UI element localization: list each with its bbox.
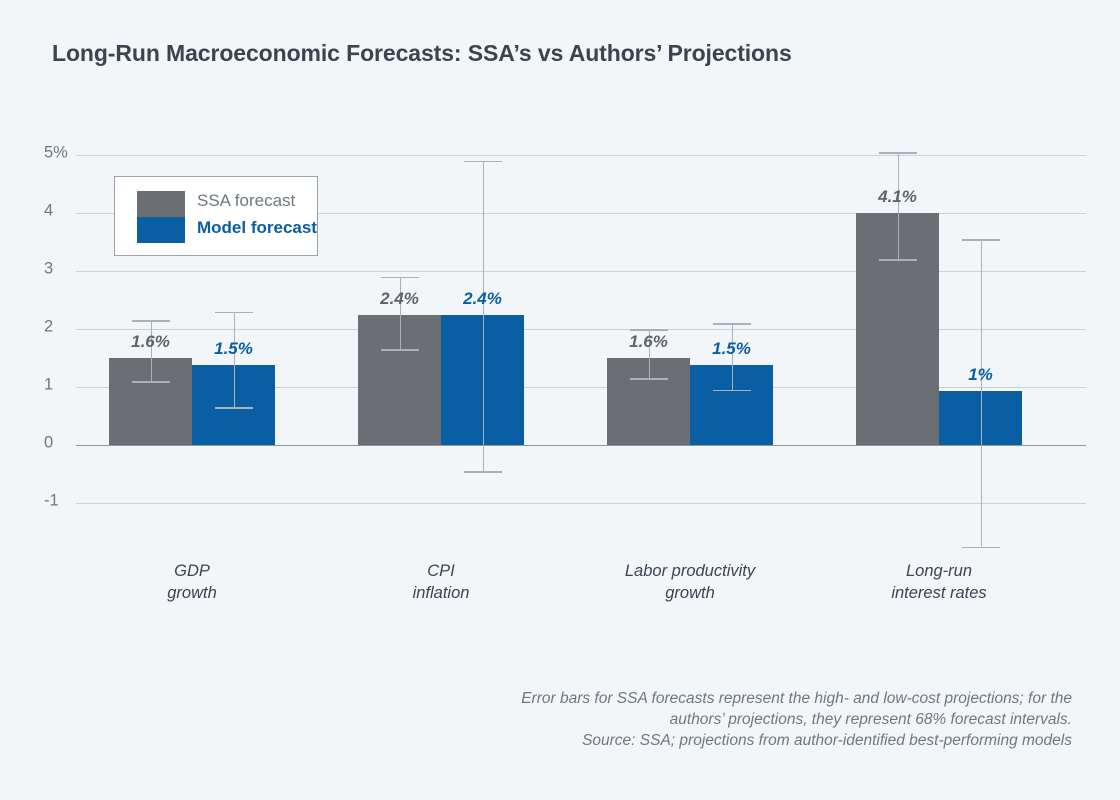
- error-bar-line-model-3: [981, 239, 982, 546]
- legend-swatch-ssa: [137, 191, 185, 217]
- category-label-line: CPI: [321, 560, 561, 582]
- error-bar-cap-high-ssa-0: [132, 320, 170, 322]
- gridline-0: [76, 445, 1086, 446]
- error-bar-cap-low-ssa-2: [630, 378, 668, 380]
- value-label-model-3: 1%: [968, 365, 993, 385]
- error-bar-cap-high-model-1: [464, 161, 502, 163]
- error-bar-cap-high-ssa-2: [630, 329, 668, 331]
- y-axis-tick-5: 5%: [44, 144, 80, 163]
- error-bar-cap-low-ssa-3: [879, 259, 917, 261]
- error-bar-cap-high-ssa-1: [381, 277, 419, 279]
- legend-swatches: [137, 191, 185, 243]
- error-bar-cap-low-ssa-0: [132, 381, 170, 383]
- value-label-model-0: 1.5%: [214, 339, 253, 359]
- category-label-line: growth: [570, 582, 810, 604]
- error-bar-cap-low-model-1: [464, 471, 502, 473]
- value-label-ssa-2: 1.6%: [629, 332, 668, 352]
- x-axis-category-label-2: Labor productivitygrowth: [570, 560, 810, 604]
- category-label-line: GDP: [72, 560, 312, 582]
- error-bar-cap-high-model-0: [215, 312, 253, 314]
- footnote-line-3: Source: SSA; projections from author-ide…: [412, 730, 1072, 751]
- value-label-ssa-0: 1.6%: [131, 332, 170, 352]
- category-label-line: Labor productivity: [570, 560, 810, 582]
- category-label-line: interest rates: [819, 582, 1059, 604]
- value-label-model-1: 2.4%: [463, 289, 502, 309]
- error-bar-cap-high-model-2: [713, 323, 751, 325]
- footnote-line-2: authors’ projections, they represent 68%…: [412, 709, 1072, 730]
- x-axis-category-label-3: Long-runinterest rates: [819, 560, 1059, 604]
- error-bar-cap-low-ssa-1: [381, 349, 419, 351]
- y-axis-tick-2: 2: [44, 318, 80, 337]
- chart-legend: SSA forecast Model forecast: [114, 176, 318, 256]
- category-label-line: growth: [72, 582, 312, 604]
- y-axis-tick-0: 0: [44, 434, 80, 453]
- page-title: Long-Run Macroeconomic Forecasts: SSA’s …: [52, 40, 792, 67]
- category-label-line: Long-run: [819, 560, 1059, 582]
- legend-swatch-model: [137, 217, 185, 243]
- footnote-line-1: Error bars for SSA forecasts represent t…: [412, 688, 1072, 709]
- value-label-ssa-3: 4.1%: [878, 187, 917, 207]
- error-bar-line-model-1: [483, 161, 484, 471]
- gridline--1: [76, 503, 1086, 504]
- error-bar-cap-high-ssa-3: [879, 152, 917, 154]
- category-label-line: inflation: [321, 582, 561, 604]
- y-axis-tick-4: 4: [44, 202, 80, 221]
- value-label-ssa-1: 2.4%: [380, 289, 419, 309]
- gridline-5: [76, 155, 1086, 156]
- footnote: Error bars for SSA forecasts represent t…: [412, 688, 1072, 751]
- error-bar-cap-low-model-2: [713, 390, 751, 392]
- x-axis-category-label-0: GDPgrowth: [72, 560, 312, 604]
- value-label-model-2: 1.5%: [712, 339, 751, 359]
- error-bar-line-model-0: [234, 312, 235, 408]
- y-axis-tick-3: 3: [44, 260, 80, 279]
- error-bar-cap-low-model-0: [215, 407, 253, 409]
- y-axis-tick--1: -1: [44, 492, 80, 511]
- error-bar-cap-high-model-3: [962, 239, 1000, 241]
- chart-figure: Long-Run Macroeconomic Forecasts: SSA’s …: [0, 0, 1120, 800]
- legend-label-model: Model forecast: [197, 218, 317, 238]
- legend-label-ssa: SSA forecast: [197, 191, 295, 211]
- x-axis-category-label-1: CPIinflation: [321, 560, 561, 604]
- y-axis-tick-1: 1: [44, 376, 80, 395]
- error-bar-cap-low-model-3: [962, 547, 1000, 549]
